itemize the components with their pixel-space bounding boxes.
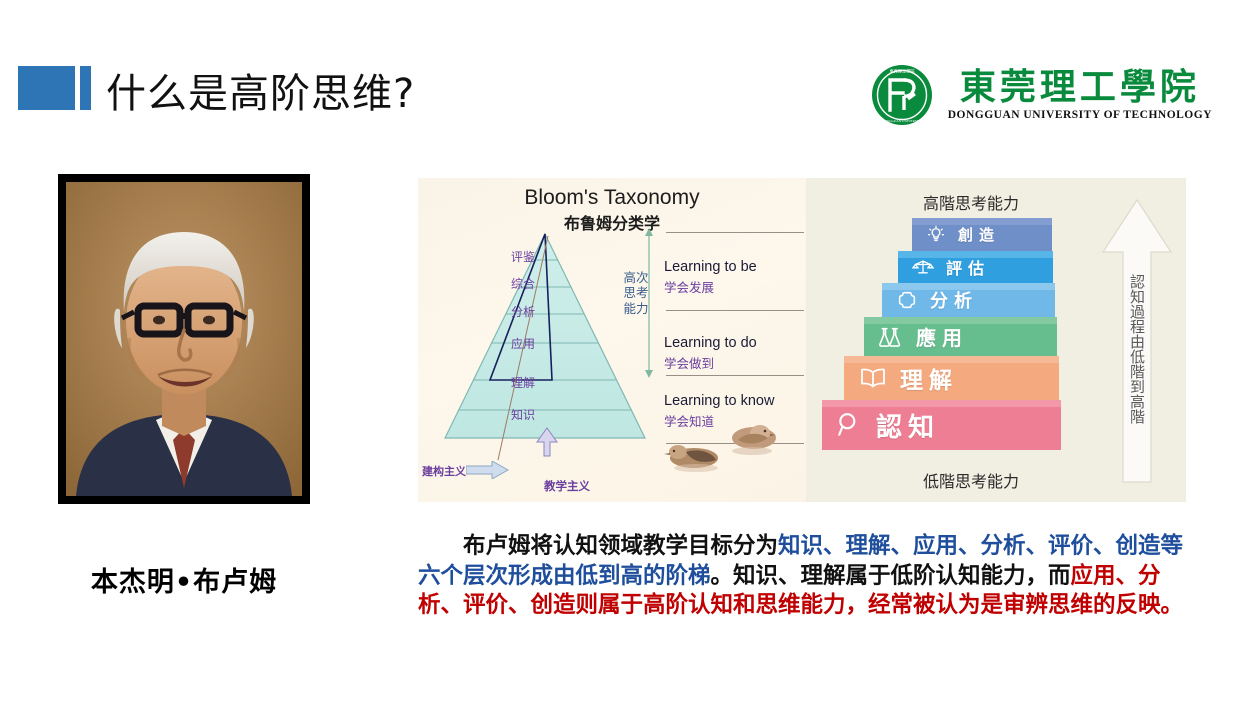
stair-step-analyze-label: 分析 xyxy=(930,287,978,313)
portrait-image xyxy=(66,182,302,496)
learning-row-1-en: Learning to do xyxy=(664,335,804,351)
university-emblem-icon: 東莞理工學院 DONGGUAN UNIVERSITY xyxy=(870,63,934,127)
body-paragraph-segment-0: 布卢姆将认知领域教学目标分为 xyxy=(418,533,778,559)
lightbulb-icon xyxy=(926,225,946,245)
stair-step-create-label: 創造 xyxy=(958,224,1000,245)
portrait-caption: 本杰明•布卢姆 xyxy=(58,560,310,599)
logo-text: 東莞理工學院 DONGGUAN UNIVERSITY OF TECHNOLOGY xyxy=(948,69,1212,122)
stair-step-create[interactable]: 創造 xyxy=(912,218,1052,251)
university-logo: 東莞理工學院 DONGGUAN UNIVERSITY 東莞理工學院 DONGGU… xyxy=(870,60,1212,130)
stair-step-understand-label: 理解 xyxy=(900,361,958,395)
lower-order-thinking-label: 低階思考能力 xyxy=(806,468,1136,492)
learning-row-1: Learning to do 学会做到 xyxy=(664,335,804,372)
birds-illustration-icon xyxy=(642,418,800,476)
pyramid-level-label-5: 知识 xyxy=(493,406,553,423)
portrait-illustration xyxy=(66,182,302,496)
stair-step-remember-label: 認知 xyxy=(876,407,940,444)
stair-step-apply-top xyxy=(864,317,1057,324)
slide-header: 什么是高阶思维? 東莞理工學院 DONGGUAN UNIVERSITY 東莞理工… xyxy=(0,0,1240,150)
constructivism-label: 建构主义 xyxy=(422,463,466,479)
open-book-icon xyxy=(858,366,888,390)
stair-step-remember-top xyxy=(822,400,1061,407)
stair-step-understand-top xyxy=(844,356,1059,363)
figure-separator-0 xyxy=(666,232,804,233)
pyramid-level-label-3: 应用 xyxy=(493,335,553,352)
portrait-frame xyxy=(58,174,310,504)
body-paragraph: 布卢姆将认知领域教学目标分为知识、理解、应用、分析、评价、创造等六个层次形成由低… xyxy=(418,532,1198,621)
constructivism-arrow-icon xyxy=(466,461,510,479)
higher-thinking-label: 高次思考能力 xyxy=(623,270,649,316)
svg-text:DONGGUAN UNIVERSITY: DONGGUAN UNIVERSITY xyxy=(881,119,922,123)
bloom-pyramid-figure: Bloom's Taxonomy 布鲁姆分类学 评鉴 综合 分析 应用 理解 知… xyxy=(418,178,806,502)
stair-step-apply-label: 應用 xyxy=(916,322,968,351)
stair-step-understand[interactable]: 理解 xyxy=(844,356,1059,400)
learning-row-0: Learning to be 学会发展 xyxy=(664,259,804,296)
title-accent-block xyxy=(18,66,75,110)
stair-step-remember[interactable]: 認知 xyxy=(822,400,1061,450)
magnifier-icon xyxy=(836,411,864,439)
stair-step-evaluate-label: 評估 xyxy=(946,255,990,279)
learning-row-1-cn: 学会做到 xyxy=(664,353,804,372)
stair-step-evaluate[interactable]: 評估 xyxy=(898,251,1053,283)
body-paragraph-segment-2: 。知识、理解属于低阶认知能力，而 xyxy=(711,563,1071,589)
pyramid-level-label-1: 综合 xyxy=(493,275,553,292)
higher-order-thinking-label: 高階思考能力 xyxy=(806,190,1136,214)
stair-step-apply[interactable]: 應用 xyxy=(864,317,1057,356)
cognitive-stairs-figure: 高階思考能力 低階思考能力 創造 評估 xyxy=(806,178,1186,502)
learning-row-2-en: Learning to know xyxy=(664,393,804,409)
instructivism-label: 教学主义 xyxy=(544,478,590,494)
stair-step-evaluate-top xyxy=(898,251,1053,258)
flask-icon xyxy=(878,325,904,349)
pyramid-level-label-0: 评鉴 xyxy=(493,248,553,265)
figure-separator-2 xyxy=(666,375,804,376)
puzzle-piece-icon xyxy=(896,289,918,311)
pyramid-level-label-2: 分析 xyxy=(493,303,553,320)
pyramid-level-label-4: 理解 xyxy=(493,374,553,391)
page-title: 什么是高阶思维? xyxy=(106,61,415,119)
bloom-title-en: Bloom's Taxonomy xyxy=(418,186,806,210)
figure-separator-1 xyxy=(666,310,804,311)
logo-name-en: DONGGUAN UNIVERSITY OF TECHNOLOGY xyxy=(948,109,1212,121)
balance-scale-icon xyxy=(912,257,934,277)
stair-step-analyze[interactable]: 分析 xyxy=(882,283,1055,317)
svg-text:東莞理工學院: 東莞理工學院 xyxy=(889,68,915,75)
title-accent-bar xyxy=(80,66,91,110)
stair-step-analyze-top xyxy=(882,283,1055,290)
learning-row-0-en: Learning to be xyxy=(664,259,804,275)
learning-row-0-cn: 学会发展 xyxy=(664,277,804,296)
cognition-arrow-label: 認知過程由低階到高階 xyxy=(1120,236,1146,462)
logo-name-cn: 東莞理工學院 xyxy=(960,69,1200,107)
stair-step-create-top xyxy=(912,218,1052,225)
